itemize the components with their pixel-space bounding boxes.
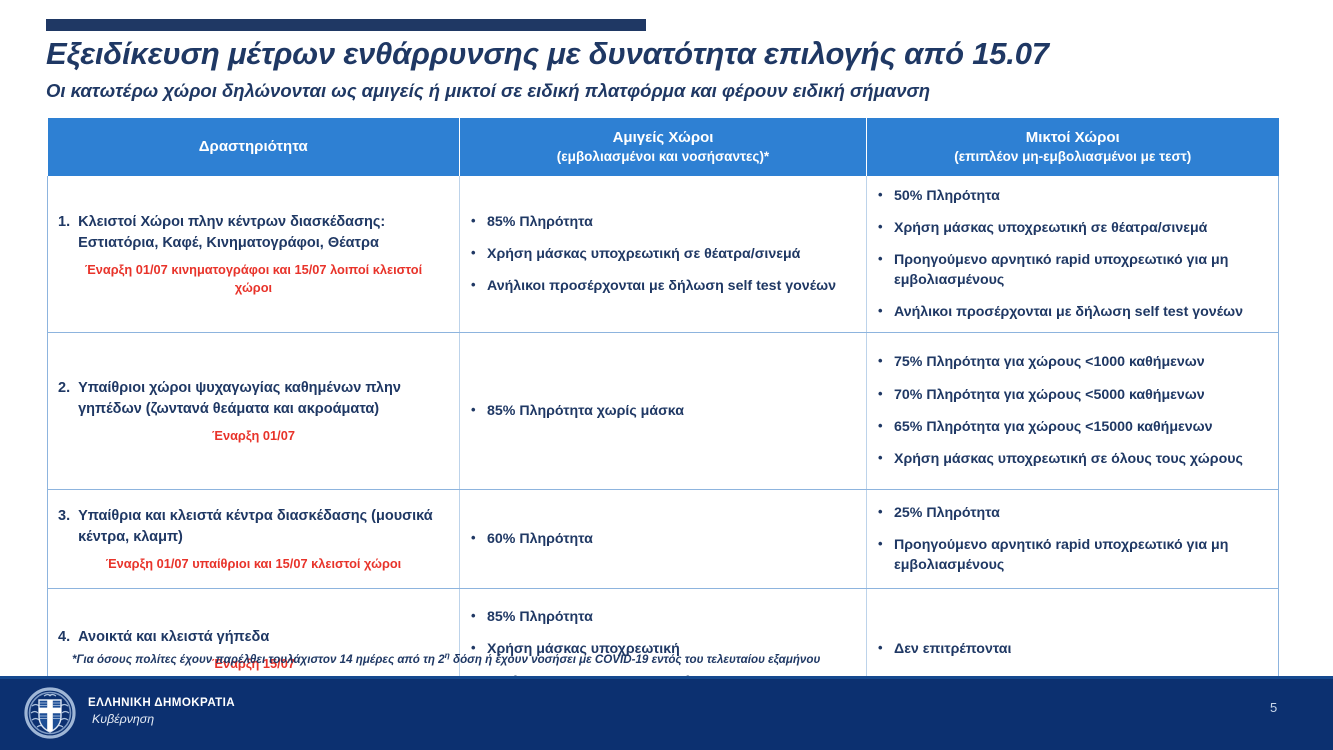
measures-table: Δραστηριότητα Αμιγείς Χώροι (εμβολιασμέν… <box>47 118 1279 711</box>
footnote-prefix: *Για όσους πολίτες έχουν παρέλθει τουλάχ… <box>72 653 445 666</box>
activity-cell: 3. Υπαίθρια και κλειστά κέντρα διασκέδασ… <box>48 490 460 589</box>
list-item: Ανήλικοι προσέρχονται με δήλωση self tes… <box>877 303 1268 322</box>
page-title: Εξειδίκευση μέτρων ενθάρρυνσης με δυνατό… <box>46 36 1296 72</box>
list-item: 65% Πληρότητα για χώρους <15000 καθήμενω… <box>877 418 1268 437</box>
footer-band <box>0 676 1333 750</box>
table-row: 3. Υπαίθρια και κλειστά κέντρα διασκέδασ… <box>48 490 1279 589</box>
column-header-pure-spaces: Αμιγείς Χώροι (εμβολιασμένοι και νοσήσαν… <box>460 118 867 176</box>
footer-organization: ΕΛΛΗΝΙΚΗ ΔΗΜΟΚΡΑΤΙΑ <box>88 696 235 709</box>
mixed-spaces-cell: 25% Πληρότητα Προηγούμενο αρνητικό rapid… <box>867 490 1279 589</box>
list-item: 75% Πληρότητα για χώρους <1000 καθήμενων <box>877 353 1268 372</box>
activity-number: 1. <box>58 212 70 233</box>
column-header-mixed-spaces-main: Μικτοί Χώροι <box>1026 129 1120 146</box>
activity-text: 2. Υπαίθριοι χώροι ψυχαγωγίας καθημένων … <box>58 378 449 419</box>
footer-accent-line <box>0 676 1333 679</box>
activity-start-date: Έναρξη 01/07 κινηματογράφοι και 15/07 λο… <box>58 261 449 297</box>
list-item: 85% Πληρότητα <box>470 213 856 232</box>
list-item: 85% Πληρότητα <box>470 608 856 627</box>
title-accent-bar <box>46 19 646 31</box>
table-row: 1. Κλειστοί Χώροι πλην κέντρων διασκέδασ… <box>48 176 1279 333</box>
mixed-spaces-cell: 50% Πληρότητα Χρήση μάσκας υποχρεωτική σ… <box>867 176 1279 333</box>
activity-text: 1. Κλειστοί Χώροι πλην κέντρων διασκέδασ… <box>58 212 449 253</box>
column-header-mixed-spaces-sub: (επιπλέον μη-εμβολιασμένοι με τεστ) <box>873 148 1273 166</box>
mixed-spaces-list: 25% Πληρότητα Προηγούμενο αρνητικό rapid… <box>877 504 1268 575</box>
list-item: 70% Πληρότητα για χώρους <5000 καθήμενων <box>877 386 1268 405</box>
column-header-activity: Δραστηριότητα <box>48 118 460 176</box>
list-item: Χρήση μάσκας υποχρεωτική σε όλους τους χ… <box>877 450 1268 469</box>
pure-spaces-list: 85% Πληρότητα χωρίς μάσκα <box>470 402 856 421</box>
footnote: *Για όσους πολίτες έχουν παρέλθει τουλάχ… <box>72 650 1272 666</box>
activity-label: Υπαίθρια και κλειστά κέντρα διασκέδασης … <box>78 506 449 547</box>
mixed-spaces-list: 75% Πληρότητα για χώρους <1000 καθήμενων… <box>877 353 1268 469</box>
list-item: Χρήση μάσκας υποχρεωτική σε θέατρα/σινεμ… <box>877 219 1268 238</box>
list-item: 60% Πληρότητα <box>470 530 856 549</box>
column-header-pure-spaces-sub: (εμβολιασμένοι και νοσήσαντες)* <box>466 148 860 166</box>
activity-start-date: Έναρξη 01/07 υπαίθριοι και 15/07 κλειστο… <box>58 555 449 573</box>
list-item: 85% Πληρότητα χωρίς μάσκα <box>470 402 856 421</box>
activity-number: 2. <box>58 378 70 399</box>
table-row: 2. Υπαίθριοι χώροι ψυχαγωγίας καθημένων … <box>48 333 1279 490</box>
footnote-suffix: δόση ή έχουν νοσήσει με COVID-19 εντός τ… <box>450 653 821 666</box>
pure-spaces-cell: 60% Πληρότητα <box>460 490 867 589</box>
pure-spaces-list: 85% Πληρότητα Χρήση μάσκας υποχρεωτική σ… <box>470 213 856 297</box>
mixed-spaces-list: 50% Πληρότητα Χρήση μάσκας υποχρεωτική σ… <box>877 187 1268 323</box>
list-item: 50% Πληρότητα <box>877 187 1268 206</box>
pure-spaces-list: 60% Πληρότητα <box>470 530 856 549</box>
activity-number: 3. <box>58 506 70 527</box>
activity-start-date: Έναρξη 01/07 <box>58 427 449 445</box>
footer-department: Κυβέρνηση <box>92 712 154 726</box>
activity-cell: 1. Κλειστοί Χώροι πλην κέντρων διασκέδασ… <box>48 176 460 333</box>
list-item: Προηγούμενο αρνητικό rapid υποχρεωτικό γ… <box>877 251 1268 290</box>
greek-coat-of-arms-icon <box>24 687 76 739</box>
activity-label: Ανοικτά και κλειστά γήπεδα <box>78 627 449 648</box>
list-item: 25% Πληρότητα <box>877 504 1268 523</box>
mixed-spaces-cell: 75% Πληρότητα για χώρους <1000 καθήμενων… <box>867 333 1279 490</box>
list-item: Προηγούμενο αρνητικό rapid υποχρεωτικό γ… <box>877 536 1268 575</box>
table-header-row: Δραστηριότητα Αμιγείς Χώροι (εμβολιασμέν… <box>48 118 1279 176</box>
activity-text: 4. Ανοικτά και κλειστά γήπεδα <box>58 627 449 648</box>
column-header-activity-main: Δραστηριότητα <box>199 138 308 155</box>
activity-label: Υπαίθριοι χώροι ψυχαγωγίας καθημένων πλη… <box>78 378 449 419</box>
page-number: 5 <box>1270 700 1277 715</box>
activity-text: 3. Υπαίθρια και κλειστά κέντρα διασκέδασ… <box>58 506 449 547</box>
column-header-mixed-spaces: Μικτοί Χώροι (επιπλέον μη-εμβολιασμένοι … <box>867 118 1279 176</box>
slide: Εξειδίκευση μέτρων ενθάρρυνσης με δυνατό… <box>0 0 1333 750</box>
list-item: Ανήλικοι προσέρχονται με δήλωση self tes… <box>470 277 856 296</box>
column-header-pure-spaces-main: Αμιγείς Χώροι <box>613 129 714 146</box>
pure-spaces-cell: 85% Πληρότητα Χρήση μάσκας υποχρεωτική σ… <box>460 176 867 333</box>
page-subtitle: Οι κατωτέρω χώροι δηλώνονται ως αμιγείς … <box>46 80 1296 102</box>
list-item: Χρήση μάσκας υποχρεωτική σε θέατρα/σινεμ… <box>470 245 856 264</box>
activity-number: 4. <box>58 627 70 648</box>
activity-cell: 2. Υπαίθριοι χώροι ψυχαγωγίας καθημένων … <box>48 333 460 490</box>
pure-spaces-cell: 85% Πληρότητα χωρίς μάσκα <box>460 333 867 490</box>
activity-label: Κλειστοί Χώροι πλην κέντρων διασκέδασης:… <box>78 212 449 253</box>
